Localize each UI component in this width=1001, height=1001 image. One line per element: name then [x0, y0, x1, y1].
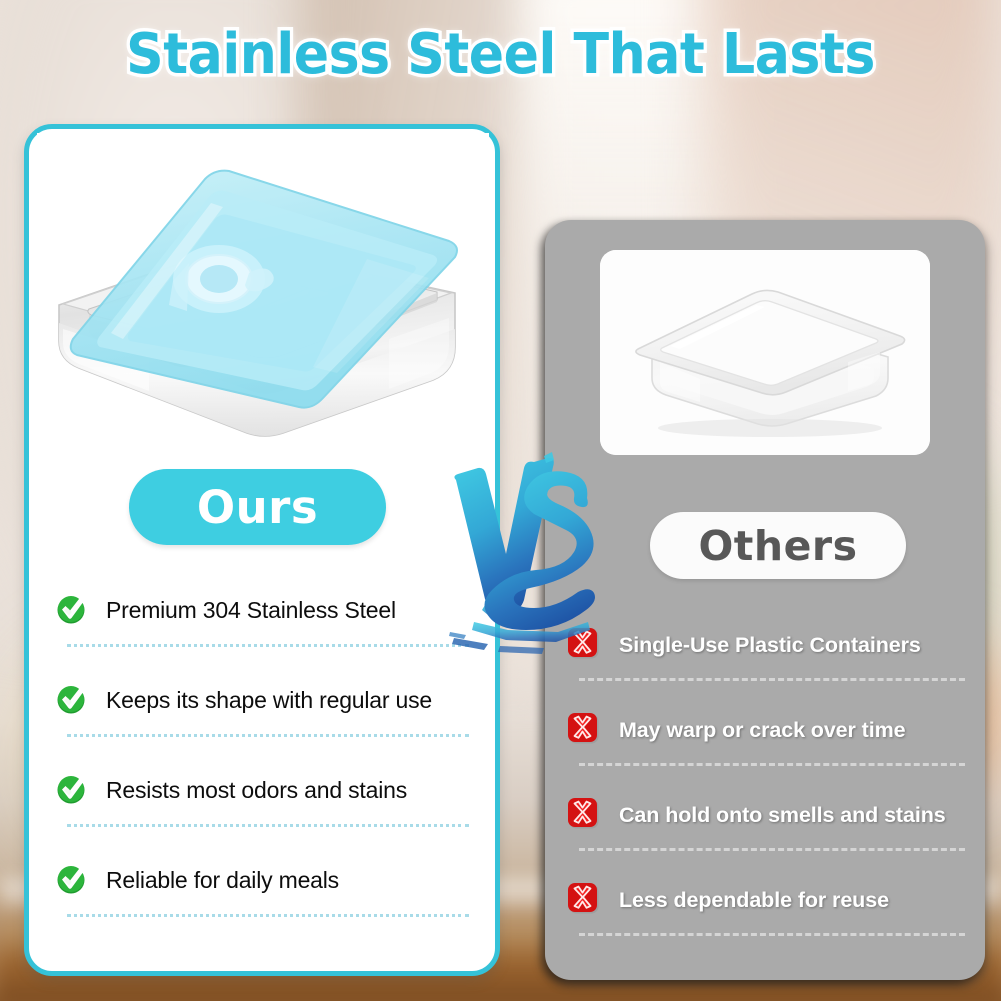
others-product-card: [600, 250, 930, 455]
vs-brush-icon: [448, 450, 613, 665]
others-list-item: May warp or crack over time: [559, 700, 971, 785]
ours-list-item: Premium 304 Stainless Steel: [37, 579, 487, 669]
ours-list-item-label: Premium 304 Stainless Steel: [106, 597, 396, 624]
page-title: Stainless Steel That Lasts: [0, 22, 1001, 94]
ours-list-item-label: Resists most odors and stains: [106, 777, 407, 804]
others-list-item-label: Can hold onto smells and stains: [619, 803, 946, 828]
others-list-item-label: May warp or crack over time: [619, 718, 906, 743]
separator-line: [67, 644, 469, 647]
page-title-text: Stainless Steel That Lasts: [126, 22, 875, 87]
separator-line: [579, 763, 965, 766]
others-badge-label: Others: [698, 522, 857, 570]
red-cross-icon: [565, 709, 603, 752]
others-list-item-label: Single-Use Plastic Containers: [619, 633, 921, 658]
ours-list-item: Keeps its shape with regular use: [37, 669, 487, 759]
others-feature-list: Single-Use Plastic Containers May warp o…: [559, 615, 971, 955]
green-check-icon: [55, 861, 91, 900]
ours-list-item-label: Reliable for daily meals: [106, 867, 339, 894]
ours-panel: Ours Premium 304 Stainless Steel: [24, 124, 500, 976]
green-check-icon: [55, 591, 91, 630]
stainless-steel-container-image: [37, 133, 489, 463]
ours-badge-label: Ours: [197, 481, 318, 534]
separator-line: [579, 678, 965, 681]
others-list-item: Single-Use Plastic Containers: [559, 615, 971, 700]
others-list-item: Can hold onto smells and stains: [559, 785, 971, 870]
others-list-item-label: Less dependable for reuse: [619, 888, 889, 913]
red-cross-icon: [565, 794, 603, 837]
separator-line: [579, 933, 965, 936]
green-check-icon: [55, 771, 91, 810]
others-badge: Others: [650, 512, 906, 579]
vs-graphic: [448, 450, 613, 665]
ours-list-item-label: Keeps its shape with regular use: [106, 687, 432, 714]
others-list-item: Less dependable for reuse: [559, 870, 971, 955]
ours-product-card: [37, 133, 489, 463]
separator-line: [67, 734, 469, 737]
red-cross-icon: [565, 879, 603, 922]
ours-list-item: Reliable for daily meals: [37, 849, 487, 939]
green-check-icon: [55, 681, 91, 720]
plastic-container-image: [600, 250, 930, 455]
ours-feature-list: Premium 304 Stainless Steel Keeps its sh…: [37, 579, 487, 939]
ours-badge: Ours: [129, 469, 386, 545]
separator-line: [579, 848, 965, 851]
separator-line: [67, 914, 469, 917]
separator-line: [67, 824, 469, 827]
ours-list-item: Resists most odors and stains: [37, 759, 487, 849]
